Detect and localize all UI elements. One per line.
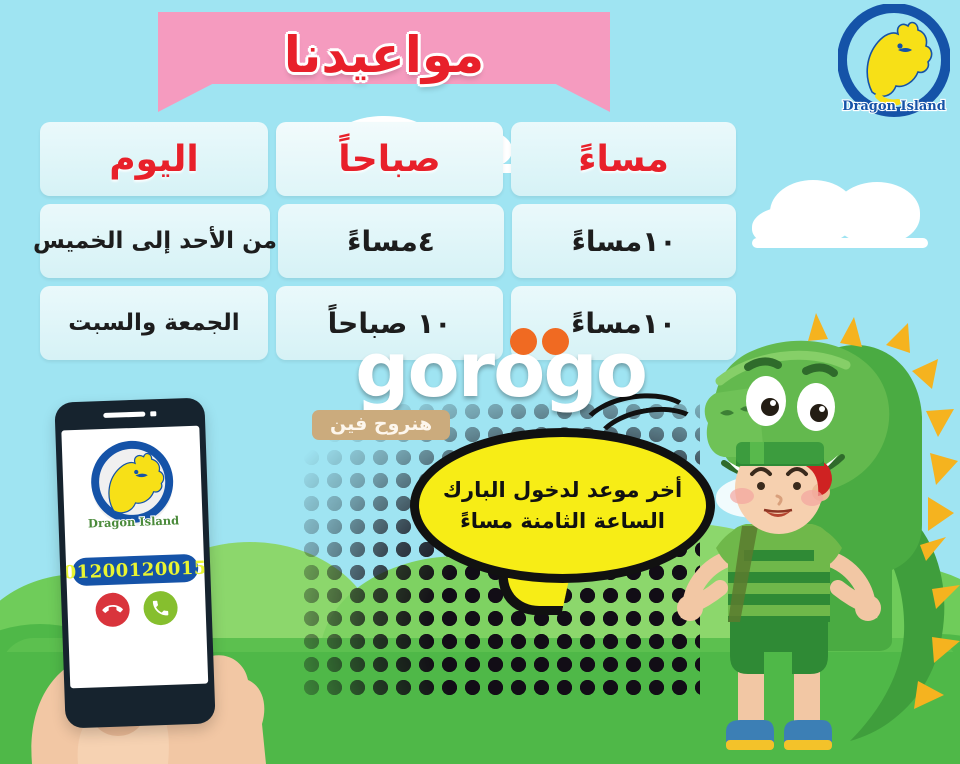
poster-canvas: Dragon Island مواعيدنا اليوم صباحاً مساء…	[0, 0, 960, 764]
phone-brand-logo: Dragon Island	[79, 434, 187, 542]
call-buttons	[67, 590, 206, 629]
header-evening: مساءً	[511, 122, 736, 196]
dragon-head-icon: Dragon Island	[838, 4, 950, 122]
tail-cover	[504, 544, 562, 566]
brand-logo-label: Dragon Island	[842, 99, 946, 114]
watermark-tagline: هنروح فين	[312, 410, 450, 440]
title-ribbon: مواعيدنا	[158, 12, 610, 112]
row-0-day: من الأحد إلى الخميس	[40, 204, 270, 278]
table-row: من الأحد إلى الخميس ٤مساءً ١٠مساءً	[40, 204, 736, 278]
header-morning: صباحاً	[276, 122, 503, 196]
watermark: gorogo هنروح فين	[306, 336, 646, 436]
phone-accept-icon	[150, 598, 171, 619]
speech-bubble-text: أخر موعد لدخول البارك الساعة الثامنة مسا…	[421, 475, 704, 536]
watermark-dot-icon	[510, 328, 537, 355]
phone-screen: Dragon Island 01200120015	[61, 426, 208, 689]
phone-speaker	[103, 411, 156, 418]
bubble-line-2: الساعة الثامنة مساءً	[443, 506, 682, 536]
dragon-head-icon: Dragon Island	[79, 434, 187, 542]
phone-number: 01200120015	[72, 554, 199, 586]
brand-logo: Dragon Island	[838, 4, 950, 122]
phone-decline-icon	[98, 596, 126, 624]
decline-call-button[interactable]	[95, 592, 130, 627]
header-day: اليوم	[40, 122, 268, 196]
row-1-day: الجمعة والسبت	[40, 286, 268, 360]
watermark-brand: gorogo	[306, 336, 646, 404]
table-header-row: اليوم صباحاً مساءً	[40, 122, 736, 196]
speech-bubble-body: أخر موعد لدخول البارك الساعة الثامنة مسا…	[410, 428, 715, 583]
phone-logo-label: Dragon Island	[88, 513, 180, 530]
watermark-dot-icon	[542, 328, 569, 355]
accept-call-button[interactable]	[143, 591, 178, 626]
phone-mockup: Dragon Island 01200120015	[54, 397, 215, 728]
row-0-morning: ٤مساءً	[278, 204, 504, 278]
bubble-line-1: أخر موعد لدخول البارك	[443, 475, 682, 505]
page-title: مواعيدنا	[158, 16, 610, 94]
